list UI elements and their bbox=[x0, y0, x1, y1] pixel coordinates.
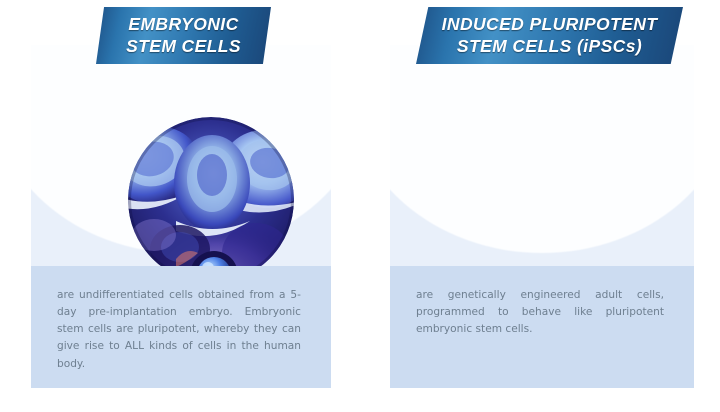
description-text: are undifferentiated cells obtained from… bbox=[57, 287, 301, 373]
banner-title-line-2: STEM CELLS (iPSCs) bbox=[457, 36, 642, 57]
banner-title-line-1: EMBRYONIC bbox=[128, 14, 238, 35]
description-text: are genetically engineered adult cells, … bbox=[416, 287, 664, 338]
banner-embryonic-stem-cells: EMBRYONIC STEM CELLS bbox=[96, 7, 271, 64]
banner-title-line-1: INDUCED PLURIPOTENT bbox=[442, 14, 658, 35]
banner-induced-pluripotent-stem-cells: INDUCED PLURIPOTENT STEM CELLS (iPSCs) bbox=[416, 7, 683, 64]
infographic-stage: are undifferentiated cells obtained from… bbox=[0, 0, 720, 412]
card-embryonic-stem-cells: are undifferentiated cells obtained from… bbox=[31, 45, 331, 388]
embryonic-stem-cells-description: are undifferentiated cells obtained from… bbox=[31, 266, 331, 388]
banner-title-line-2: STEM CELLS bbox=[126, 36, 241, 57]
ipsc-description: are genetically engineered adult cells, … bbox=[390, 266, 694, 388]
card-arc-decoration bbox=[390, 45, 694, 253]
card-induced-pluripotent-stem-cells: are genetically engineered adult cells, … bbox=[390, 45, 694, 388]
embryonic-stem-cells-micrograph-icon bbox=[128, 117, 294, 283]
